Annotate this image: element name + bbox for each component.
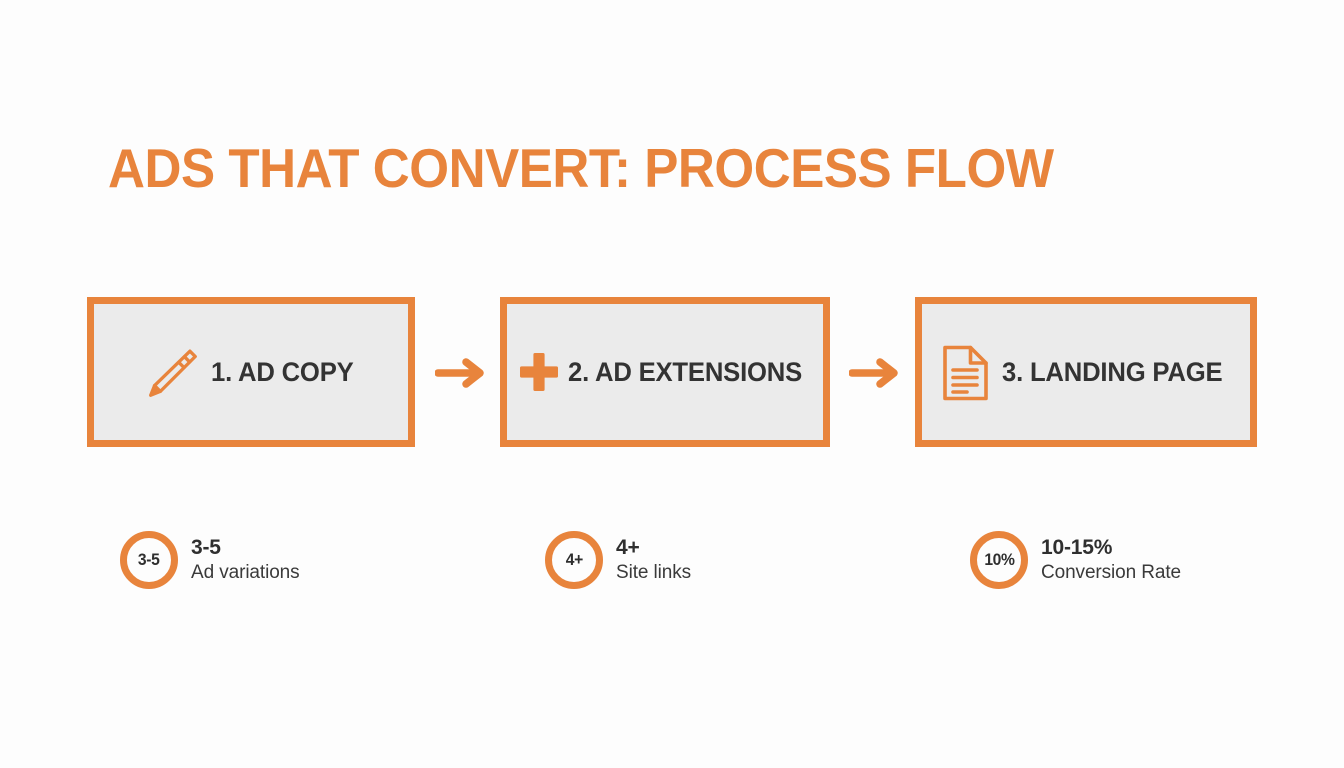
flow-step-content: 2. AD EXTENSIONS — [508, 349, 822, 395]
flow-step-landing-page[interactable]: 3. LANDING PAGE — [915, 297, 1257, 447]
stat-conversion-rate: 10% 10-15% Conversion Rate — [970, 520, 1181, 600]
stat-badge-text: 4+ — [565, 550, 582, 570]
stat-badge-circle: 4+ — [545, 531, 603, 589]
stat-badge-text: 3-5 — [138, 550, 160, 570]
stat-badge-text: 10% — [984, 550, 1014, 570]
stat-text-block: 3-5 Ad variations — [191, 537, 300, 584]
stat-text-block: 4+ Site links — [616, 537, 691, 584]
stat-badge-circle: 3-5 — [120, 531, 178, 589]
stat-label: Ad variations — [191, 562, 300, 584]
arrow-right-icon — [849, 354, 905, 392]
slide-canvas: ADS THAT CONVERT: PROCESS FLOW — [0, 0, 1344, 768]
stat-ad-variations: 3-5 3-5 Ad variations — [120, 520, 300, 600]
flow-step-content: 3. LANDING PAGE — [930, 343, 1242, 401]
stat-label: Site links — [616, 562, 691, 584]
stat-value: 10-15% — [1041, 537, 1181, 559]
flow-step-label: 2. AD EXTENSIONS — [568, 357, 802, 388]
page-title: ADS THAT CONVERT: PROCESS FLOW — [108, 132, 1054, 204]
document-icon — [938, 343, 992, 401]
stat-label: Conversion Rate — [1041, 562, 1181, 584]
process-flow-row: 1. AD COPY 2. AD EXTENSIONS — [87, 297, 1257, 447]
stat-value: 3-5 — [191, 537, 300, 559]
flow-step-content: 1. AD COPY — [133, 341, 369, 403]
plus-icon — [516, 349, 562, 395]
flow-step-ad-extensions[interactable]: 2. AD EXTENSIONS — [500, 297, 830, 447]
stat-value: 4+ — [616, 537, 691, 559]
flow-step-ad-copy[interactable]: 1. AD COPY — [87, 297, 415, 447]
flow-step-label: 1. AD COPY — [211, 357, 354, 388]
arrow-right-icon — [435, 354, 491, 392]
stat-badge-circle: 10% — [970, 531, 1028, 589]
flow-step-label: 3. LANDING PAGE — [1002, 357, 1222, 388]
stats-row: 3-5 3-5 Ad variations 4+ 4+ Site links 1… — [120, 520, 1270, 600]
stat-text-block: 10-15% Conversion Rate — [1041, 537, 1181, 584]
pencil-icon — [141, 341, 203, 403]
stat-site-links: 4+ 4+ Site links — [545, 520, 691, 600]
